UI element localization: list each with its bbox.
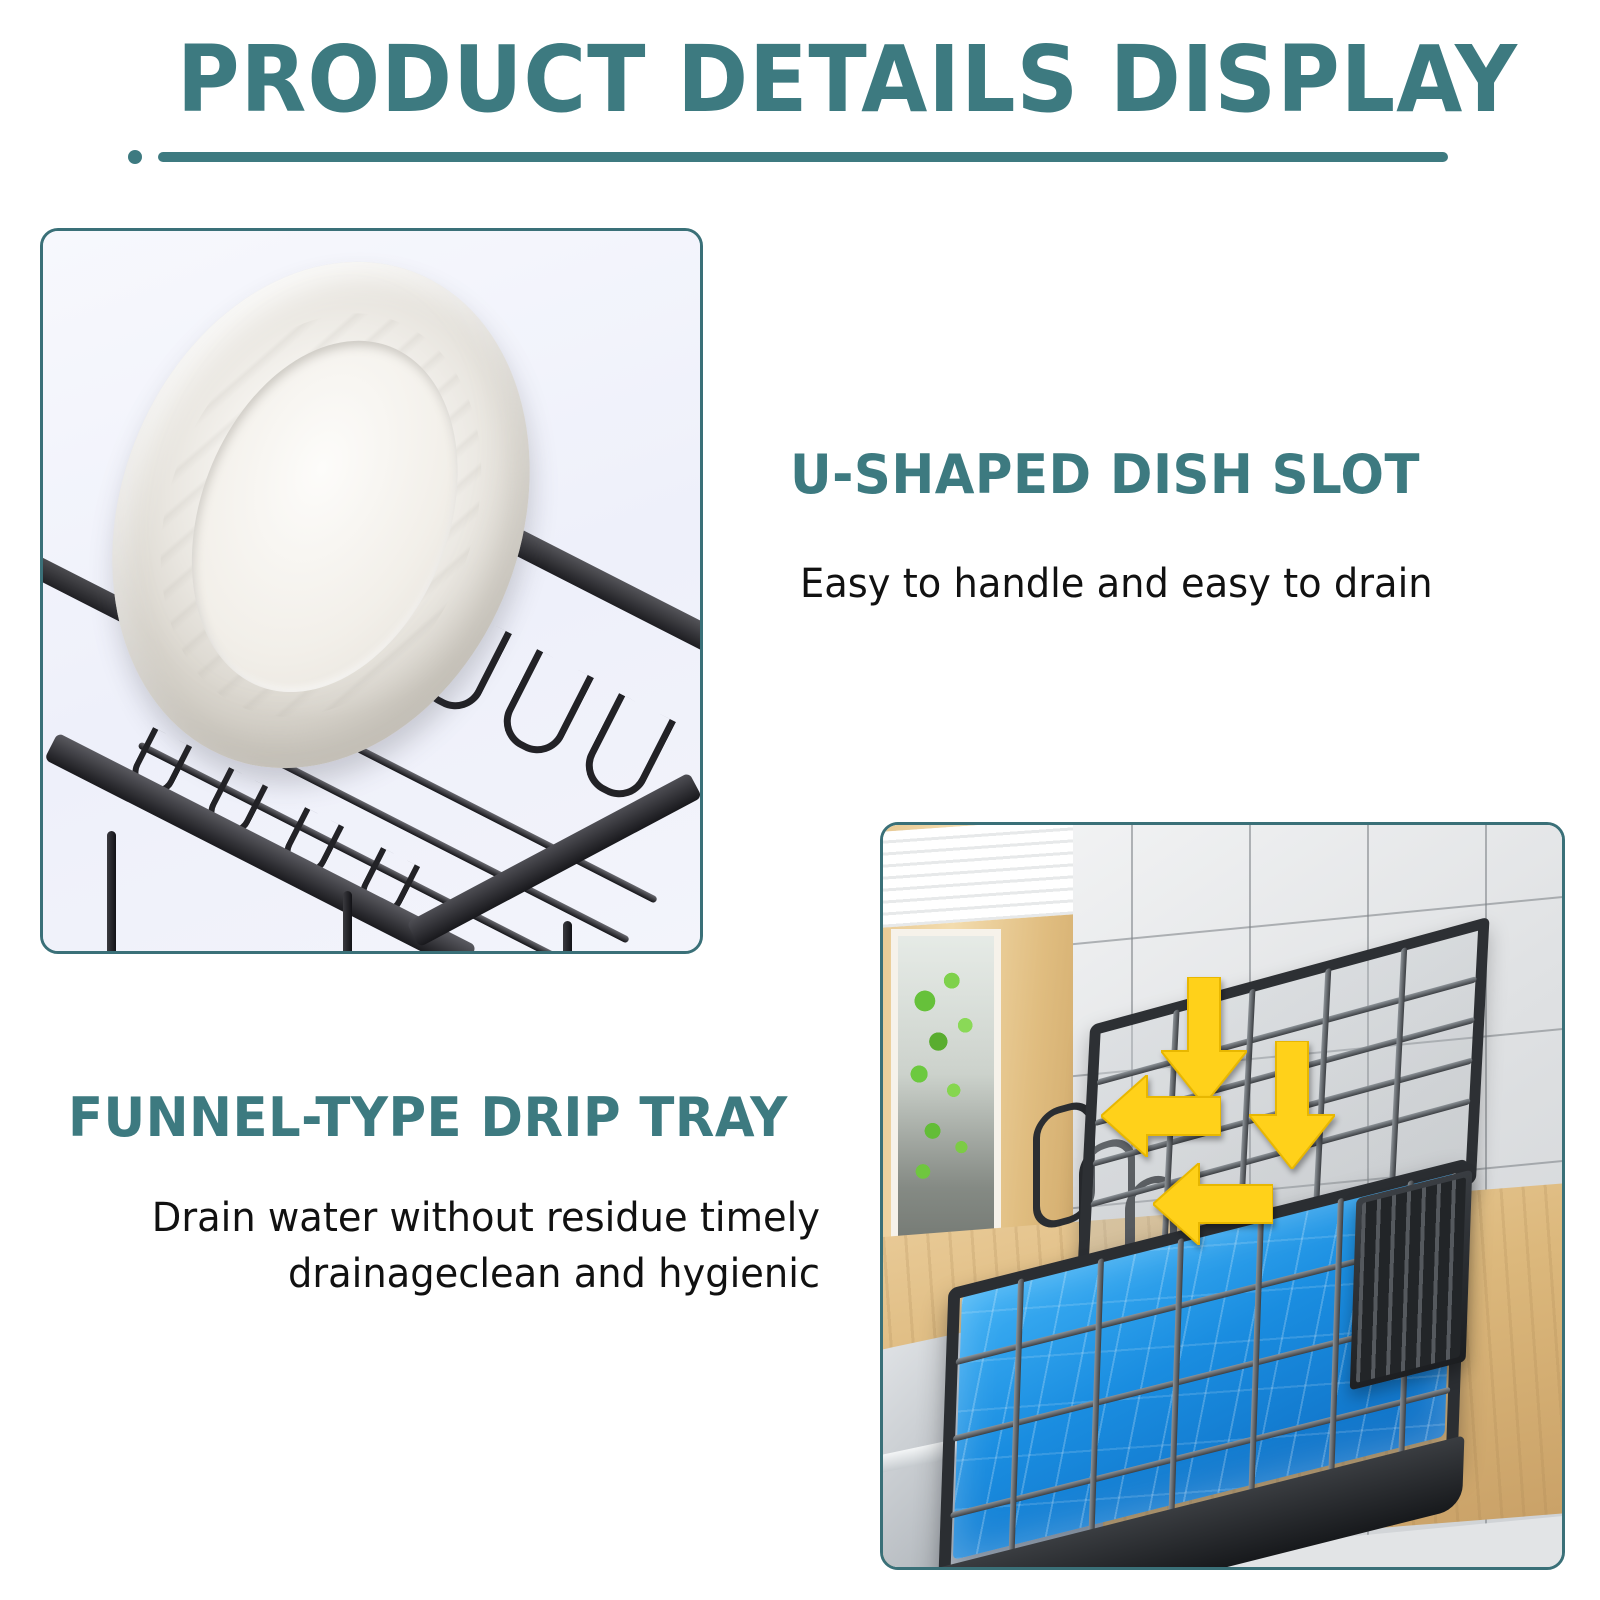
dish-slot-scene (43, 231, 700, 951)
cutlery-holder-slots (1356, 1177, 1466, 1383)
rack-leg (563, 921, 572, 954)
title-divider (128, 148, 1448, 164)
arrow-left-tray-upper (1101, 1075, 1221, 1157)
rack-leg (343, 891, 352, 954)
kitchen-scene (883, 825, 1562, 1567)
feature-body-funnel-type-drip-tray: Drain water without residue timely drain… (90, 1190, 820, 1302)
product-details-infographic: PRODUCT DETAILS DISPLAY (0, 0, 1600, 1600)
feature-heading-u-shaped-dish-slot: U-SHAPED DISH SLOT (790, 445, 1420, 505)
window-blind (883, 822, 1073, 928)
divider-dot-icon (128, 150, 142, 164)
dish-rack-with-plate-photo (40, 228, 703, 954)
feature-body-u-shaped-dish-slot: Easy to handle and easy to drain (800, 556, 1434, 612)
arrow-down-upper-right (1249, 1041, 1335, 1169)
rack-leg (107, 831, 116, 954)
divider-line (158, 152, 1448, 162)
cutlery-holder (1350, 1170, 1473, 1391)
page-title: PRODUCT DETAILS DISPLAY (177, 30, 1423, 130)
arrow-left-tray-lower (1153, 1163, 1273, 1245)
feature-heading-funnel-type-drip-tray: FUNNEL-TYPE DRIP TRAY (68, 1088, 788, 1148)
kitchen-scene-drip-tray-photo (880, 822, 1565, 1570)
